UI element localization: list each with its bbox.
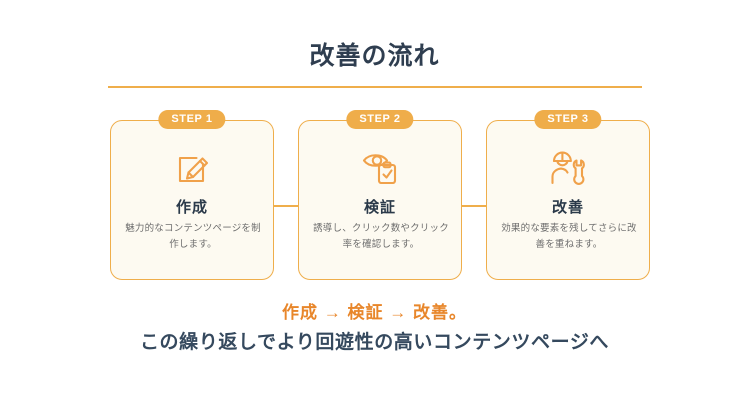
step-card-1[interactable]: STEP 1 作成 魅力的なコンテンツページを制作します。 [110,120,274,280]
steps-row: STEP 1 作成 魅力的なコンテンツページを制作します。 STEP 2 [110,120,650,282]
step-connector-2-3 [462,205,486,207]
title-divider [108,86,642,88]
step-title-3: 改善 [487,196,649,217]
step-badge-1: STEP 1 [158,110,225,129]
step-card-2[interactable]: STEP 2 検証 誘導し、クリック数やクリック率を確認します。 [298,120,462,280]
footer-summary: 作成 → 検証 → 改善。 この繰り返しでより回遊性の高いコンテンツページへ [0,300,749,358]
step-title-2: 検証 [299,196,461,217]
step-title-1: 作成 [111,196,273,217]
step-badge-3: STEP 3 [534,110,601,129]
footer-cycle-text: 作成 → 検証 → 改善。 [0,300,749,326]
page-title: 改善の流れ [0,36,749,72]
footer-conclusion-text: この繰り返しでより回遊性の高いコンテンツページへ [0,328,749,358]
step-badge-2: STEP 2 [346,110,413,129]
step-description-1: 魅力的なコンテンツページを制作します。 [121,221,265,252]
pencil-square-icon [169,145,215,189]
step-description-3: 効果的な要素を残してさらに改善を重ねます。 [497,221,641,252]
worker-wrench-icon [545,145,591,189]
eye-clipboard-check-icon [357,145,403,189]
slide-canvas: 改善の流れ STEP 1 作成 魅力的なコンテンツページを制作します。 STEP… [0,0,749,420]
step-description-2: 誘導し、クリック数やクリック率を確認します。 [309,221,453,252]
step-connector-1-2 [274,205,298,207]
step-card-3[interactable]: STEP 3 改善 効果的な要素を残してさらに改善を重ねます。 [486,120,650,280]
